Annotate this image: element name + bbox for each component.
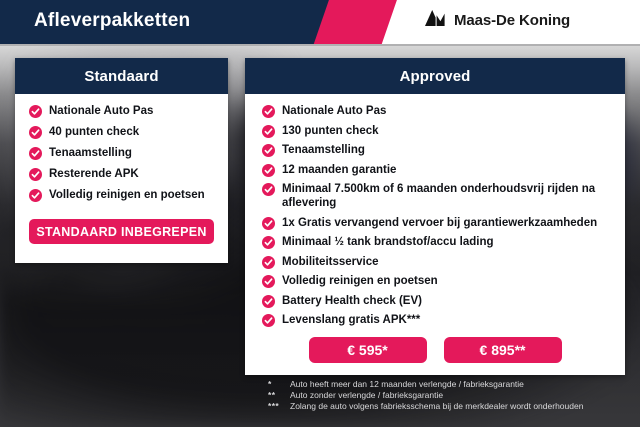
feature-item: 12 maanden garantie	[245, 163, 625, 177]
check-circle-icon	[262, 236, 275, 249]
footnote-text: Zolang de auto volgens fabrieksschema bi…	[290, 401, 583, 411]
brand-name: Maas-De Koning	[454, 12, 570, 29]
feature-item: Battery Health check (EV)	[245, 294, 625, 308]
card-body-standaard: Nationale Auto Pas40 punten checkTenaams…	[15, 94, 228, 202]
feature-list-standaard: Nationale Auto Pas40 punten checkTenaams…	[15, 104, 228, 202]
feature-label: Mobiliteitsservice	[282, 255, 379, 269]
footnote-text: Auto zonder verlengde / fabrieksgarantie	[290, 390, 443, 400]
card-header-standaard: Standaard	[15, 58, 228, 94]
feature-label: 130 punten check	[282, 124, 379, 138]
background-top-divider	[0, 44, 640, 46]
footnote-row: **Auto zonder verlengde / fabrieksgarant…	[268, 390, 628, 400]
check-circle-icon	[29, 147, 42, 160]
footnotes: *Auto heeft meer dan 12 maanden verlengd…	[268, 379, 628, 412]
footnote-row: ***Zolang de auto volgens fabrieksschema…	[268, 401, 628, 411]
feature-item: Nationale Auto Pas	[15, 104, 228, 118]
feature-label: Minimaal 7.500km of 6 maanden onderhouds…	[282, 182, 615, 210]
card-header-approved: Approved	[245, 58, 625, 94]
standaard-included-button[interactable]: STANDAARD INBEGREPEN	[29, 219, 214, 244]
footnote-marker: *	[268, 379, 290, 389]
card-body-approved: Nationale Auto Pas130 punten checkTenaam…	[245, 94, 625, 327]
check-circle-icon	[262, 125, 275, 138]
offer-page: Afleverpakketten Maas-De Koning Standaar…	[0, 0, 640, 427]
feature-item: Minimaal 7.500km of 6 maanden onderhouds…	[245, 182, 625, 210]
check-circle-icon	[262, 105, 275, 118]
card-title-standaard: Standaard	[84, 68, 158, 85]
feature-label: Volledig reinigen en poetsen	[49, 188, 205, 202]
check-circle-icon	[262, 164, 275, 177]
feature-label: Nationale Auto Pas	[49, 104, 153, 118]
price-button-2[interactable]: € 895**	[444, 337, 562, 363]
check-circle-icon	[262, 295, 275, 308]
feature-label: Levenslang gratis APK***	[282, 313, 420, 327]
feature-item: Nationale Auto Pas	[245, 104, 625, 118]
feature-item: Minimaal ½ tank brandstof/accu lading	[245, 235, 625, 249]
footnote-row: *Auto heeft meer dan 12 maanden verlengd…	[268, 379, 628, 389]
check-circle-icon	[29, 168, 42, 181]
check-circle-icon	[262, 256, 275, 269]
check-circle-icon	[29, 105, 42, 118]
feature-label: 40 punten check	[49, 125, 139, 139]
footnote-text: Auto heeft meer dan 12 maanden verlengde…	[290, 379, 524, 389]
package-card-approved: Approved Nationale Auto Pas130 punten ch…	[245, 58, 625, 375]
feature-item: Levenslang gratis APK***	[245, 313, 625, 327]
feature-item: Volledig reinigen en poetsen	[245, 274, 625, 288]
check-circle-icon	[29, 126, 42, 139]
feature-item: Tenaamstelling	[245, 143, 625, 157]
feature-list-approved: Nationale Auto Pas130 punten checkTenaam…	[245, 104, 625, 327]
check-circle-icon	[262, 314, 275, 327]
check-circle-icon	[29, 189, 42, 202]
brand-lockup: Maas-De Koning	[424, 9, 570, 32]
feature-label: Tenaamstelling	[282, 143, 365, 157]
check-circle-icon	[262, 275, 275, 288]
feature-label: Nationale Auto Pas	[282, 104, 386, 118]
feature-label: 1x Gratis vervangend vervoer bij garanti…	[282, 216, 597, 230]
feature-label: Volledig reinigen en poetsen	[282, 274, 438, 288]
feature-label: Resterende APK	[49, 167, 139, 181]
feature-item: Volledig reinigen en poetsen	[15, 188, 228, 202]
check-circle-icon	[262, 183, 275, 196]
feature-item: Mobiliteitsservice	[245, 255, 625, 269]
footnote-marker: **	[268, 390, 290, 400]
footnote-marker: ***	[268, 401, 290, 411]
price-button-1[interactable]: € 595*	[309, 337, 427, 363]
feature-item: Tenaamstelling	[15, 146, 228, 160]
feature-item: 40 punten check	[15, 125, 228, 139]
feature-label: Minimaal ½ tank brandstof/accu lading	[282, 235, 494, 249]
page-header: Afleverpakketten Maas-De Koning	[0, 0, 640, 44]
feature-label: Tenaamstelling	[49, 146, 132, 160]
check-circle-icon	[262, 217, 275, 230]
check-circle-icon	[262, 144, 275, 157]
feature-item: 1x Gratis vervangend vervoer bij garanti…	[245, 216, 625, 230]
price-button-row: € 595*€ 895**	[245, 337, 625, 363]
card-title-approved: Approved	[400, 68, 471, 85]
page-title: Afleverpakketten	[34, 10, 190, 32]
feature-item: Resterende APK	[15, 167, 228, 181]
maas-de-koning-logo-icon	[424, 9, 446, 32]
feature-label: Battery Health check (EV)	[282, 294, 422, 308]
feature-label: 12 maanden garantie	[282, 163, 396, 177]
package-card-standaard: Standaard Nationale Auto Pas40 punten ch…	[15, 58, 228, 263]
feature-item: 130 punten check	[245, 124, 625, 138]
